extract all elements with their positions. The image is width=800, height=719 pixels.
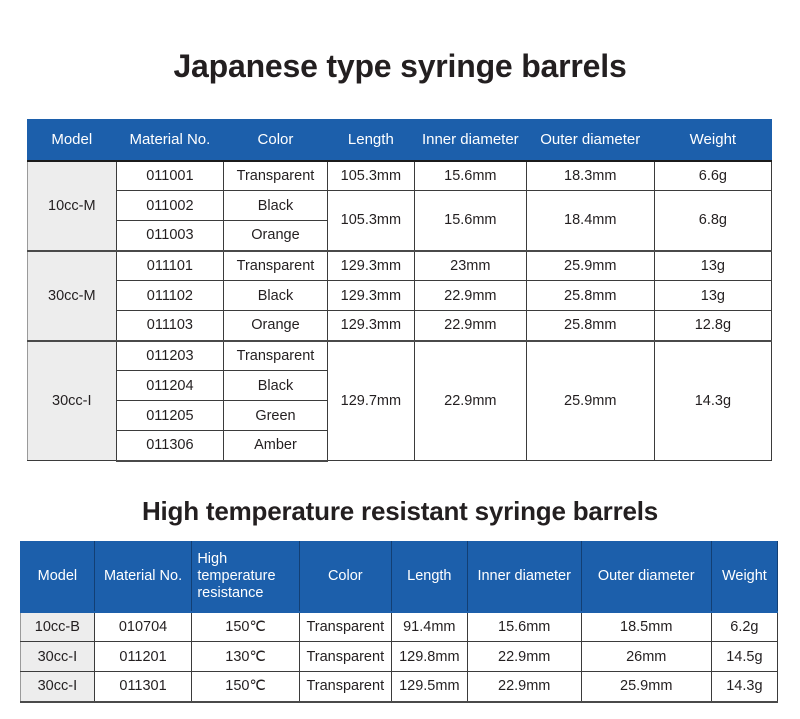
color-cell: Green: [224, 401, 328, 431]
length-cell: 129.5mm: [391, 672, 467, 702]
column-header-outer-diameter: Outer diameter: [581, 542, 711, 612]
page-title-japanese-type: Japanese type syringe barrels: [0, 46, 800, 86]
weight-cell: 6.8g: [654, 191, 771, 251]
outer-diameter-cell: 25.9mm: [526, 251, 654, 281]
color-cell: Transparent: [299, 612, 391, 642]
column-header-length: Length: [327, 120, 414, 161]
table-row: 011103 Orange 129.3mm 22.9mm 25.8mm 12.8…: [28, 311, 772, 341]
material-no-cell: 011102: [116, 281, 224, 311]
outer-diameter-cell: 25.8mm: [526, 281, 654, 311]
color-cell: Transparent: [224, 251, 328, 281]
outer-diameter-cell: 18.3mm: [526, 161, 654, 191]
model-cell: 30cc-M: [28, 251, 117, 341]
material-no-cell: 011201: [94, 642, 192, 672]
model-cell: 30cc-I: [21, 642, 95, 672]
color-cell: Transparent: [299, 642, 391, 672]
table-header-row: Model Material No. High temperature resi…: [21, 542, 778, 612]
inner-diameter-cell: 22.9mm: [414, 311, 526, 341]
model-cell: 30cc-I: [28, 341, 117, 461]
length-cell: 105.3mm: [327, 191, 414, 251]
column-header-length: Length: [391, 542, 467, 612]
weight-cell: 14.3g: [711, 672, 777, 702]
column-header-weight: Weight: [654, 120, 771, 161]
column-header-material-no: Material No.: [116, 120, 224, 161]
length-cell: 129.7mm: [327, 341, 414, 461]
high-temperature-resistant-syringe-barrels-table: Model Material No. High temperature resi…: [20, 541, 778, 703]
column-header-inner-diameter: Inner diameter: [467, 542, 581, 612]
color-cell: Black: [224, 371, 328, 401]
column-header-inner-diameter: Inner diameter: [414, 120, 526, 161]
length-cell: 105.3mm: [327, 161, 414, 191]
material-no-cell: 011002: [116, 191, 224, 221]
outer-diameter-cell: 26mm: [581, 642, 711, 672]
length-cell: 129.8mm: [391, 642, 467, 672]
column-header-model: Model: [28, 120, 117, 161]
color-cell: Black: [224, 191, 328, 221]
table-header-row: Model Material No. Color Length Inner di…: [28, 120, 772, 161]
inner-diameter-cell: 15.6mm: [414, 191, 526, 251]
color-cell: Orange: [224, 311, 328, 341]
color-cell: Transparent: [224, 341, 328, 371]
weight-cell: 14.5g: [711, 642, 777, 672]
heat-resistance-cell: 130℃: [192, 642, 299, 672]
material-no-cell: 010704: [94, 612, 192, 642]
length-cell: 129.3mm: [327, 251, 414, 281]
page-title-high-temperature-resistant: High temperature resistant syringe barre…: [0, 494, 800, 528]
inner-diameter-cell: 22.9mm: [414, 341, 526, 461]
color-cell: Amber: [224, 431, 328, 461]
model-cell: 10cc-B: [21, 612, 95, 642]
outer-diameter-cell: 25.9mm: [581, 672, 711, 702]
table-row: 011102 Black 129.3mm 22.9mm 25.8mm 13g: [28, 281, 772, 311]
table-row: 30cc-M 011101 Transparent 129.3mm 23mm 2…: [28, 251, 772, 281]
material-no-cell: 011001: [116, 161, 224, 191]
inner-diameter-cell: 22.9mm: [414, 281, 526, 311]
table-row: 10cc-M 011001 Transparent 105.3mm 15.6mm…: [28, 161, 772, 191]
column-header-color: Color: [224, 120, 328, 161]
outer-diameter-cell: 18.5mm: [581, 612, 711, 642]
column-header-weight: Weight: [711, 542, 777, 612]
weight-cell: 14.3g: [654, 341, 771, 461]
column-header-material-no: Material No.: [94, 542, 192, 612]
column-header-color: Color: [299, 542, 391, 612]
inner-diameter-cell: 15.6mm: [414, 161, 526, 191]
color-cell: Transparent: [224, 161, 328, 191]
table-row: 30cc-I 011203 Transparent 129.7mm 22.9mm…: [28, 341, 772, 371]
column-header-high-temperature-resistance: High temperature resistance: [192, 542, 299, 612]
weight-cell: 13g: [654, 281, 771, 311]
column-header-model: Model: [21, 542, 95, 612]
japanese-type-syringe-barrels-table: Model Material No. Color Length Inner di…: [27, 119, 772, 462]
material-no-cell: 011204: [116, 371, 224, 401]
material-no-cell: 011205: [116, 401, 224, 431]
table-row: 011002 Black 105.3mm 15.6mm 18.4mm 6.8g: [28, 191, 772, 221]
weight-cell: 12.8g: [654, 311, 771, 341]
length-cell: 129.3mm: [327, 311, 414, 341]
material-no-cell: 011101: [116, 251, 224, 281]
outer-diameter-cell: 25.8mm: [526, 311, 654, 341]
table-row: 30cc-I 011301 150℃ Transparent 129.5mm 2…: [21, 672, 778, 702]
table-row: 30cc-I 011201 130℃ Transparent 129.8mm 2…: [21, 642, 778, 672]
weight-cell: 6.2g: [711, 612, 777, 642]
material-no-cell: 011103: [116, 311, 224, 341]
inner-diameter-cell: 23mm: [414, 251, 526, 281]
inner-diameter-cell: 15.6mm: [467, 612, 581, 642]
color-cell: Orange: [224, 221, 328, 251]
table-row: 10cc-B 010704 150℃ Transparent 91.4mm 15…: [21, 612, 778, 642]
outer-diameter-cell: 18.4mm: [526, 191, 654, 251]
weight-cell: 6.6g: [654, 161, 771, 191]
weight-cell: 13g: [654, 251, 771, 281]
color-cell: Transparent: [299, 672, 391, 702]
spec-sheet-page: Japanese type syringe barrels Model Mate…: [0, 0, 800, 719]
length-cell: 129.3mm: [327, 281, 414, 311]
column-header-outer-diameter: Outer diameter: [526, 120, 654, 161]
inner-diameter-cell: 22.9mm: [467, 672, 581, 702]
material-no-cell: 011003: [116, 221, 224, 251]
color-cell: Black: [224, 281, 328, 311]
length-cell: 91.4mm: [391, 612, 467, 642]
heat-resistance-cell: 150℃: [192, 612, 299, 642]
heat-resistance-cell: 150℃: [192, 672, 299, 702]
material-no-cell: 011306: [116, 431, 224, 461]
inner-diameter-cell: 22.9mm: [467, 642, 581, 672]
model-cell: 30cc-I: [21, 672, 95, 702]
model-cell: 10cc-M: [28, 161, 117, 251]
material-no-cell: 011301: [94, 672, 192, 702]
outer-diameter-cell: 25.9mm: [526, 341, 654, 461]
material-no-cell: 011203: [116, 341, 224, 371]
